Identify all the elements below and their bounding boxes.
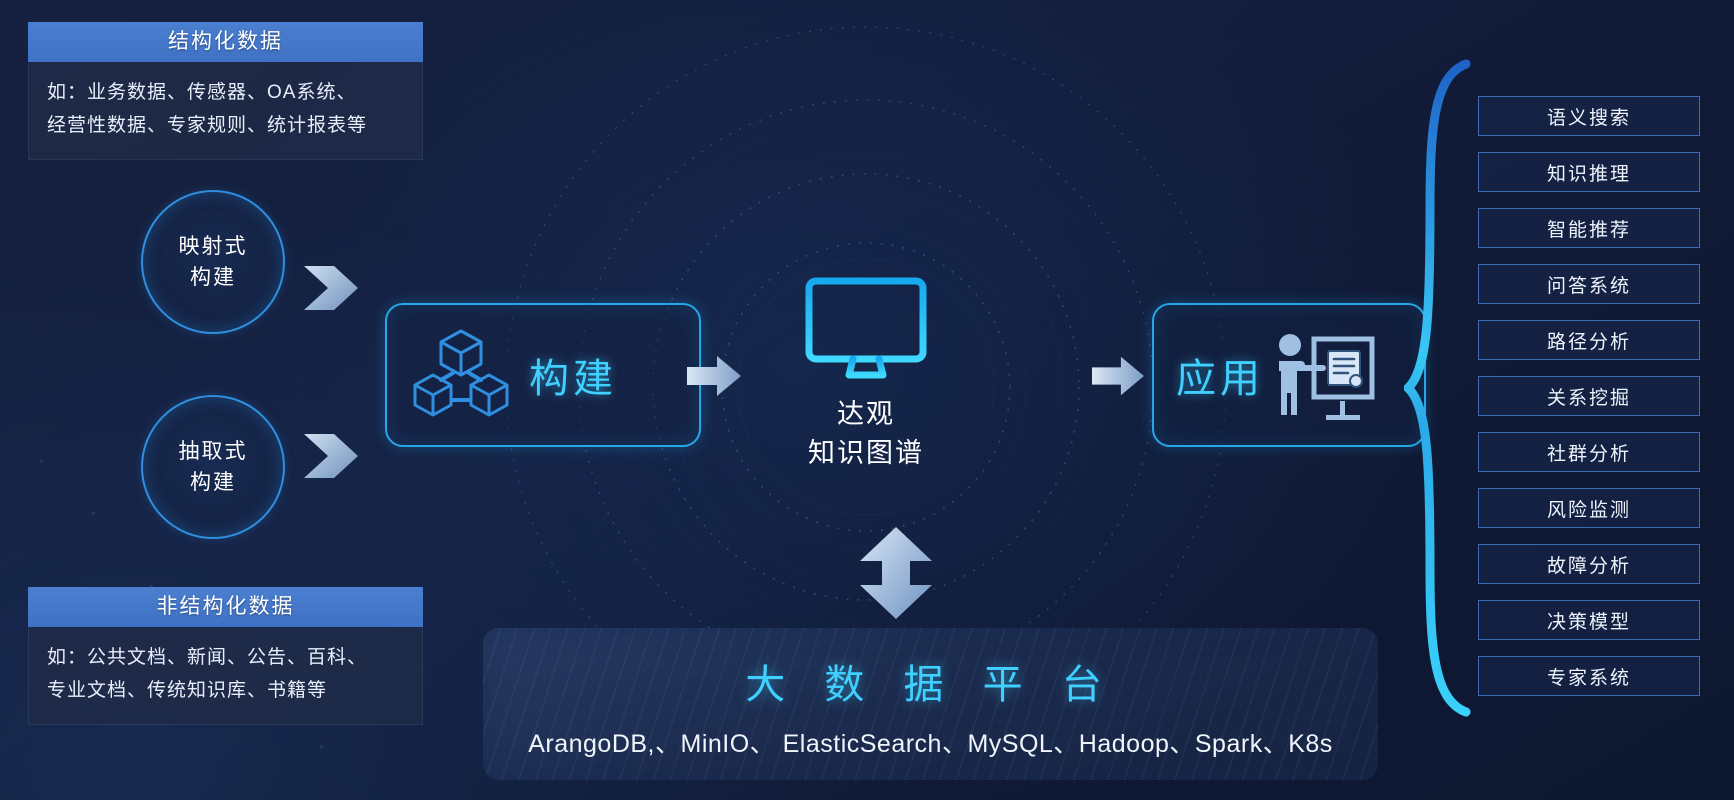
chevron-arrow-icon — [300, 430, 362, 482]
mapping-construction-line-2: 构建 — [190, 262, 236, 294]
application-item-label: 知识推理 — [1547, 159, 1631, 186]
mapping-construction-circle: 映射式 构建 — [141, 190, 285, 334]
structured-data-line-2: 经营性数据、专家规则、统计报表等 — [47, 109, 404, 142]
structured-data-title: 结构化数据 — [28, 22, 423, 62]
extraction-construction-circle: 抽取式 构建 — [141, 395, 285, 539]
application-item-label: 风险监测 — [1547, 495, 1631, 522]
double-arrow-vertical-icon — [858, 527, 934, 619]
application-item[interactable]: 决策模型 — [1478, 600, 1700, 640]
application-item[interactable]: 专家系统 — [1478, 656, 1700, 696]
application-stage-label: 应用 — [1176, 346, 1264, 404]
unstructured-data-title: 非结构化数据 — [28, 587, 423, 627]
application-item-label: 路径分析 — [1547, 327, 1631, 354]
application-item-label: 问答系统 — [1547, 271, 1631, 298]
application-item[interactable]: 问答系统 — [1478, 264, 1700, 304]
application-item[interactable]: 路径分析 — [1478, 320, 1700, 360]
chevron-arrow-icon — [300, 262, 362, 314]
knowledge-graph-architecture-diagram: 结构化数据 如：业务数据、传感器、OA系统、 经营性数据、专家规则、统计报表等 … — [0, 0, 1734, 800]
structured-data-line-1: 如：业务数据、传感器、OA系统、 — [47, 76, 404, 109]
build-stage-box: 构建 — [385, 303, 701, 447]
monitor-icon — [803, 275, 929, 387]
extraction-construction-line-1: 抽取式 — [179, 436, 248, 468]
right-arrow-icon — [687, 356, 741, 396]
platform-title: 大 数 据 平 台 — [483, 652, 1378, 710]
application-item-label: 故障分析 — [1547, 551, 1631, 578]
hub-label: 达观 知识图谱 — [808, 395, 924, 473]
application-item[interactable]: 关系挖掘 — [1478, 376, 1700, 416]
platform-stack-list: ArangoDB,、MinIO、 ElasticSearch、MySQL、Had… — [483, 724, 1378, 760]
extraction-construction-line-2: 构建 — [190, 467, 236, 499]
application-item[interactable]: 语义搜索 — [1478, 96, 1700, 136]
application-item-label: 智能推荐 — [1547, 215, 1631, 242]
application-stage-box: 应用 — [1152, 303, 1426, 447]
structured-data-card: 结构化数据 如：业务数据、传感器、OA系统、 经营性数据、专家规则、统计报表等 — [28, 22, 423, 160]
application-item-label: 关系挖掘 — [1547, 383, 1631, 410]
unstructured-data-line-2: 专业文档、传统知识库、书籍等 — [47, 674, 404, 707]
unstructured-data-line-1: 如：公共文档、新闻、公告、百科、 — [47, 641, 404, 674]
application-item-label: 决策模型 — [1547, 607, 1631, 634]
build-stage-label: 构建 — [529, 346, 617, 404]
unstructured-data-body: 如：公共文档、新闻、公告、百科、 专业文档、传统知识库、书籍等 — [28, 627, 423, 725]
application-item-label: 社群分析 — [1547, 439, 1631, 466]
application-list: 语义搜索知识推理智能推荐问答系统路径分析关系挖掘社群分析风险监测故障分析决策模型… — [1478, 96, 1700, 712]
application-item-label: 专家系统 — [1547, 663, 1631, 690]
unstructured-data-card: 非结构化数据 如：公共文档、新闻、公告、百科、 专业文档、传统知识库、书籍等 — [28, 587, 423, 725]
hub-label-line-1: 达观 — [808, 395, 924, 434]
application-item-label: 语义搜索 — [1547, 103, 1631, 130]
application-item[interactable]: 智能推荐 — [1478, 208, 1700, 248]
application-item[interactable]: 故障分析 — [1478, 544, 1700, 584]
cube-network-icon — [409, 323, 513, 427]
structured-data-body: 如：业务数据、传感器、OA系统、 经营性数据、专家规则、统计报表等 — [28, 62, 423, 160]
application-item[interactable]: 知识推理 — [1478, 152, 1700, 192]
presenter-board-icon — [1270, 323, 1378, 427]
big-data-platform-panel: 大 数 据 平 台 ArangoDB,、MinIO、 ElasticSearch… — [483, 628, 1378, 780]
curly-brace-icon — [1404, 58, 1484, 718]
application-item[interactable]: 风险监测 — [1478, 488, 1700, 528]
knowledge-graph-hub: 达观 知识图谱 — [746, 275, 986, 500]
hub-label-line-2: 知识图谱 — [808, 434, 924, 473]
right-arrow-icon — [1092, 356, 1144, 396]
application-item[interactable]: 社群分析 — [1478, 432, 1700, 472]
mapping-construction-line-1: 映射式 — [179, 231, 248, 263]
